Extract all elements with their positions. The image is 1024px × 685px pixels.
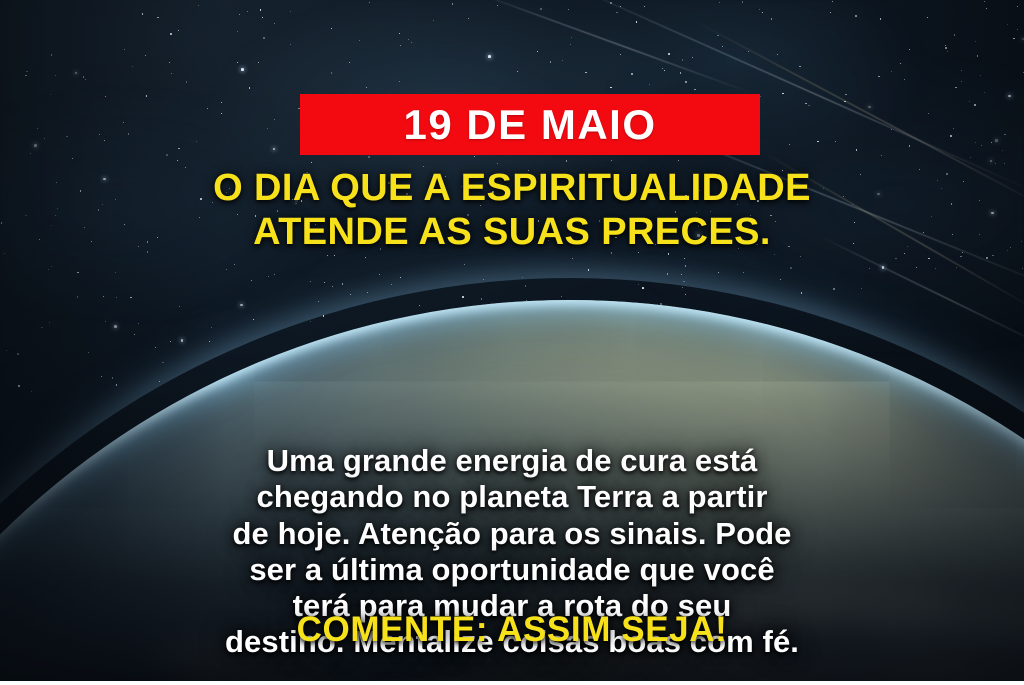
date-banner-label: 19 DE MAIO — [403, 104, 656, 146]
body-line-2: chegando no planeta Terra a partir — [0, 479, 1024, 515]
body-line-3: de hoje. Atenção para os sinais. Pode — [0, 516, 1024, 552]
bottom-white-strip — [0, 681, 1024, 685]
headline-line-1: O DIA QUE A ESPIRITUALIDADE — [0, 166, 1024, 210]
poster-content: 19 DE MAIO O DIA QUE A ESPIRITUALIDADE A… — [0, 0, 1024, 685]
headline-line-2: ATENDE AS SUAS PRECES. — [0, 210, 1024, 254]
body-line-4: ser a última oportunidade que você — [0, 552, 1024, 588]
date-banner: 19 DE MAIO — [300, 94, 760, 155]
headline: O DIA QUE A ESPIRITUALIDADE ATENDE AS SU… — [0, 166, 1024, 255]
poster-canvas: 19 DE MAIO O DIA QUE A ESPIRITUALIDADE A… — [0, 0, 1024, 685]
call-to-action-text: COMENTE: ASSIM SEJA! — [0, 612, 1024, 647]
body-line-1: Uma grande energia de cura está — [0, 443, 1024, 479]
